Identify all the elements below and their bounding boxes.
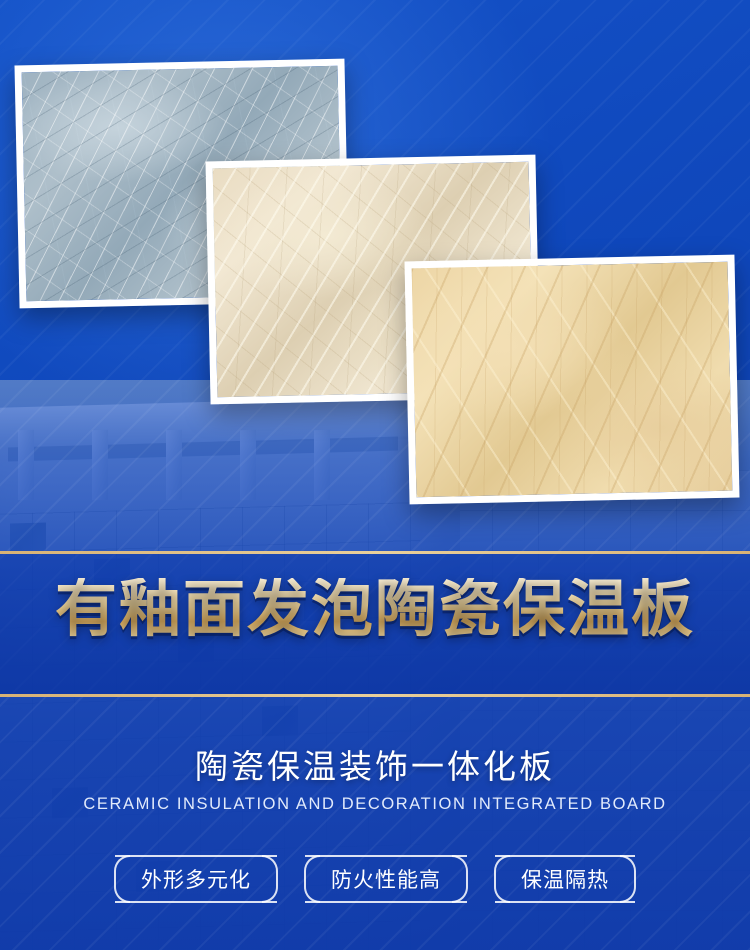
feature-pill-3: 保温隔热 — [495, 855, 635, 903]
headline-top-rule — [0, 551, 750, 554]
beige-marble-tile — [404, 255, 739, 505]
headline-bottom-rule — [0, 694, 750, 697]
beige-marble-veins — [412, 262, 733, 498]
headline: 有釉面发泡陶瓷保温板 — [0, 578, 750, 640]
feature-pill-list: 外形多元化 防火性能高 保温隔热 — [0, 855, 750, 903]
product-poster: 有釉面发泡陶瓷保温板 有釉面发泡陶瓷保温板 陶瓷保温装饰一体化板 CERAMIC… — [0, 0, 750, 950]
feature-pill-2: 防火性能高 — [305, 855, 467, 903]
feature-pill-1: 外形多元化 — [115, 855, 277, 903]
subtitle-cn: 陶瓷保温装饰一体化板 — [0, 740, 750, 788]
beige-marble-surface — [412, 262, 733, 498]
feature-pill-1-label: 外形多元化 — [141, 864, 251, 894]
feature-pill-3-label: 保温隔热 — [521, 864, 609, 894]
feature-pill-2-label: 防火性能高 — [331, 864, 441, 894]
subtitle-en: CERAMIC INSULATION AND DECORATION INTEGR… — [0, 795, 750, 814]
